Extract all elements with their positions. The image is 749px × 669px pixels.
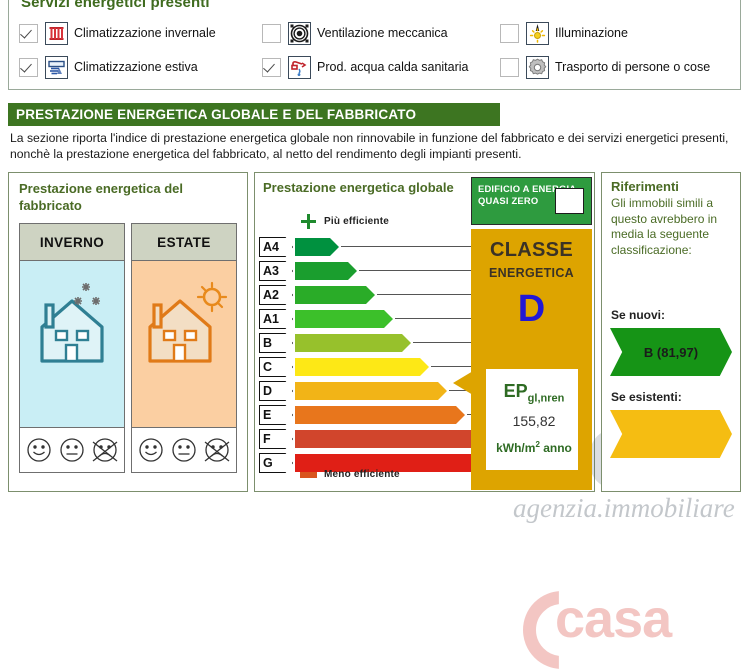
watermark-c-shape bbox=[523, 591, 601, 669]
checkbox-trasporto[interactable] bbox=[500, 58, 519, 77]
faucet-icon bbox=[288, 56, 311, 79]
energy-services-grid: Climatizzazione invernale bbox=[19, 16, 737, 84]
happy-face[interactable] bbox=[26, 437, 52, 463]
scale-leader-a2 bbox=[377, 294, 479, 295]
energy-class-value: D bbox=[471, 287, 592, 331]
legend-less-efficient: Meno efficiente bbox=[300, 469, 400, 480]
riferimenti-description: Gli immobili simili a questo avrebbero i… bbox=[611, 196, 735, 258]
legend-more-efficient-label: Più efficiente bbox=[324, 216, 389, 227]
service-item-climatizzazione-invernale[interactable]: Climatizzazione invernale bbox=[19, 22, 262, 45]
scale-leader-b bbox=[413, 342, 479, 343]
riferimenti-new-label: Se nuovi: bbox=[611, 308, 665, 322]
lamp-icon bbox=[526, 22, 549, 45]
scale-bar-a1 bbox=[295, 310, 393, 328]
scale-bar-e bbox=[295, 406, 465, 424]
checkbox-climatizzazione-invernale[interactable] bbox=[19, 24, 38, 43]
energy-services-title: Servizi energetici presenti bbox=[21, 0, 210, 11]
scale-label-e: E bbox=[259, 405, 293, 425]
nzeb-badge[interactable]: EDIFICIO A ENERGIA QUASI ZERO bbox=[471, 177, 592, 225]
scale-bar-a3 bbox=[295, 262, 357, 280]
section-header-bar: PRESTAZIONE ENERGETICA GLOBALE E DEL FAB… bbox=[8, 103, 500, 126]
nzeb-checkbox[interactable] bbox=[555, 188, 584, 214]
service-item-climatizzazione-estiva[interactable]: Climatizzazione estiva bbox=[19, 56, 262, 79]
section-description: La sezione riporta l'indice di prestazio… bbox=[10, 130, 730, 162]
checkbox-illuminazione[interactable] bbox=[500, 24, 519, 43]
service-label-ventilazione-meccanica: Ventilazione meccanica bbox=[317, 26, 448, 40]
scale-label-a1: A1 bbox=[259, 309, 293, 329]
legend-more-efficient: Più efficiente bbox=[300, 213, 389, 230]
scale-bar-f bbox=[295, 430, 483, 448]
panel-fabbricato-heading: Prestazione energetica del fabbricato bbox=[19, 180, 219, 214]
riferimenti-heading: Riferimenti bbox=[611, 179, 679, 194]
energy-class-box: CLASSE ENERGETICA D EPgl,nren 155,82 kWh… bbox=[471, 229, 592, 490]
sad-face-selected[interactable] bbox=[92, 437, 118, 463]
energy-services-row-1: Climatizzazione invernale bbox=[19, 16, 737, 50]
panel-riferimenti: Riferimenti Gli immobili simili a questo… bbox=[601, 172, 741, 492]
riferimenti-existing-label: Se esistenti: bbox=[611, 390, 682, 404]
gear-icon bbox=[526, 56, 549, 79]
ep-value-box: EPgl,nren 155,82 kWh/m2 anno bbox=[484, 367, 580, 472]
summer-house-illustration bbox=[132, 261, 236, 427]
checkbox-ventilazione-meccanica[interactable] bbox=[262, 24, 281, 43]
section-header-title: PRESTAZIONE ENERGETICA GLOBALE E DEL FAB… bbox=[8, 103, 500, 122]
service-label-acqua-calda-sanitaria: Prod. acqua calda sanitaria bbox=[317, 60, 468, 74]
riferimenti-existing-value bbox=[610, 410, 732, 458]
season-inverno-label: INVERNO bbox=[20, 224, 124, 261]
service-label-trasporto: Trasporto di persone o cose bbox=[555, 60, 710, 74]
panel-prestazione-fabbricato: Prestazione energetica del fabbricato IN… bbox=[8, 172, 248, 492]
winter-faces-row bbox=[20, 427, 124, 472]
service-label-climatizzazione-invernale: Climatizzazione invernale bbox=[74, 26, 216, 40]
ape-certificate-page: Servizi energetici presenti bbox=[0, 0, 749, 600]
happy-face[interactable] bbox=[138, 437, 164, 463]
watermark-brand: casa bbox=[555, 588, 671, 650]
energy-services-row-2: Climatizzazione estiva Prod. acqua ca bbox=[19, 50, 737, 84]
ep-value: 155,82 bbox=[486, 413, 582, 429]
ep-label: EPgl,nren bbox=[486, 381, 582, 405]
legend-less-efficient-label: Meno efficiente bbox=[324, 469, 400, 480]
scale-label-d: D bbox=[259, 381, 293, 401]
classe-title: CLASSE bbox=[471, 239, 592, 262]
scale-label-a4: A4 bbox=[259, 237, 293, 257]
radiator-icon bbox=[45, 22, 68, 45]
scale-label-g: G bbox=[259, 453, 293, 473]
scale-bar-c bbox=[295, 358, 429, 376]
energy-services-panel: Servizi energetici presenti bbox=[8, 0, 741, 90]
summer-faces-row bbox=[132, 427, 236, 472]
scale-leader-a3 bbox=[359, 270, 479, 271]
service-item-trasporto[interactable]: Trasporto di persone o cose bbox=[500, 56, 730, 79]
scale-bar-a2 bbox=[295, 286, 375, 304]
panel-globale-heading: Prestazione energetica globale bbox=[263, 179, 478, 196]
ep-unit: kWh/m2 anno bbox=[486, 440, 582, 455]
energetica-title: ENERGETICA bbox=[471, 266, 592, 280]
air-conditioner-icon bbox=[45, 56, 68, 79]
checkbox-acqua-calda-sanitaria[interactable] bbox=[262, 58, 281, 77]
winter-house-illustration bbox=[20, 261, 124, 427]
season-inverno: INVERNO bbox=[19, 223, 125, 473]
minus-icon bbox=[300, 472, 317, 478]
neutral-face[interactable] bbox=[171, 437, 197, 463]
season-estate: ESTATE bbox=[131, 223, 237, 473]
seasons-container: INVERNO bbox=[19, 223, 237, 473]
scale-label-c: C bbox=[259, 357, 293, 377]
scale-label-b: B bbox=[259, 333, 293, 353]
scale-label-a2: A2 bbox=[259, 285, 293, 305]
scale-label-f: F bbox=[259, 429, 293, 449]
service-item-ventilazione-meccanica[interactable]: Ventilazione meccanica bbox=[262, 22, 500, 45]
scale-bar-a4 bbox=[295, 238, 339, 256]
checkbox-climatizzazione-estiva[interactable] bbox=[19, 58, 38, 77]
neutral-face[interactable] bbox=[59, 437, 85, 463]
season-estate-label: ESTATE bbox=[132, 224, 236, 261]
service-label-illuminazione: Illuminazione bbox=[555, 26, 628, 40]
watermark-sub: agenzia.immobiliare bbox=[513, 493, 735, 524]
panel-prestazione-globale: Prestazione energetica globale ICO agenz… bbox=[254, 172, 595, 492]
sad-face-selected[interactable] bbox=[204, 437, 230, 463]
service-label-climatizzazione-estiva: Climatizzazione estiva bbox=[74, 60, 198, 74]
fan-icon bbox=[288, 22, 311, 45]
service-item-acqua-calda-sanitaria[interactable]: Prod. acqua calda sanitaria bbox=[262, 56, 500, 79]
plus-icon bbox=[300, 213, 317, 230]
scale-label-a3: A3 bbox=[259, 261, 293, 281]
service-item-illuminazione[interactable]: Illuminazione bbox=[500, 22, 730, 45]
scale-leader-a1 bbox=[395, 318, 479, 319]
scale-bar-d bbox=[295, 382, 447, 400]
scale-bar-b bbox=[295, 334, 411, 352]
scale-leader-a4 bbox=[341, 246, 479, 247]
riferimenti-new-value: B (81,97) bbox=[610, 328, 732, 376]
